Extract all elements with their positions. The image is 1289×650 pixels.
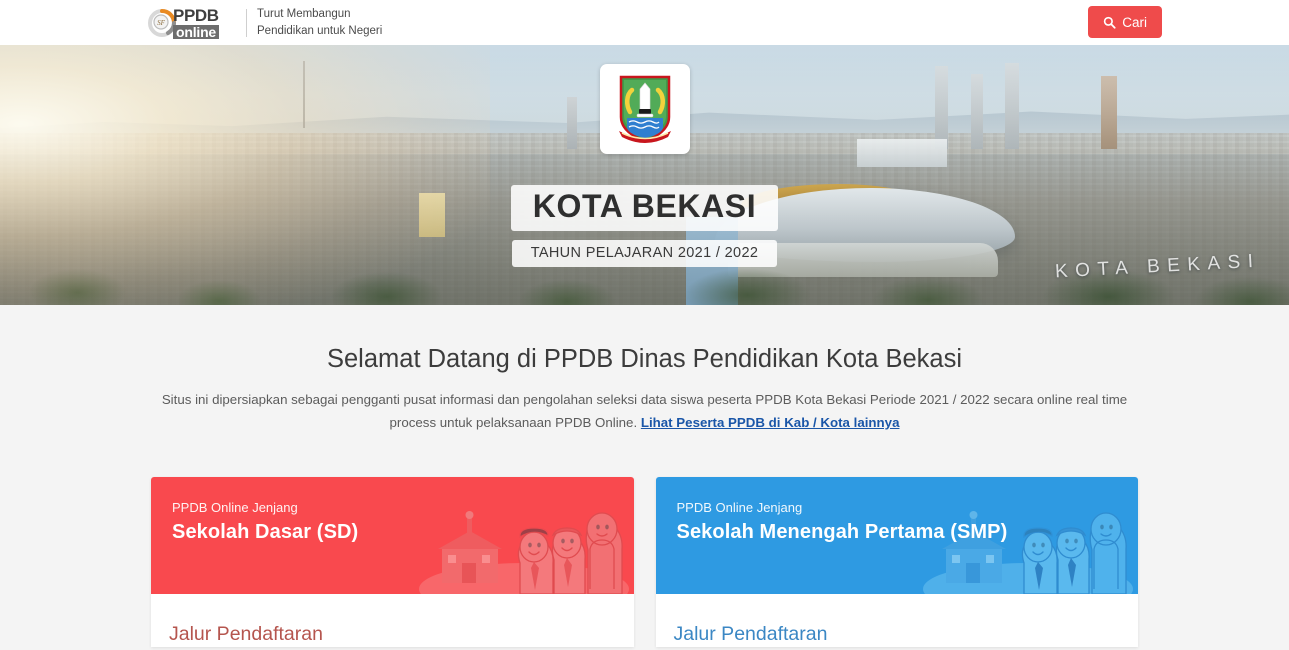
tagline-line-1: Turut Membangun (257, 6, 382, 23)
kota-bekasi-coat-of-arms-icon (613, 73, 677, 145)
card-sekolah-menengah-pertama[interactable]: PPDB Online Jenjang Sekolah Menengah Per… (656, 477, 1139, 647)
search-button-label: Cari (1122, 15, 1147, 30)
welcome-section: Selamat Datang di PPDB Dinas Pendidikan … (0, 305, 1289, 435)
svg-text:SF: SF (157, 19, 166, 27)
tagline-line-2: Pendidikan untuk Negeri (257, 23, 382, 40)
card-section-title-smp: Jalur Pendaftaran (674, 625, 1139, 645)
card-sekolah-dasar[interactable]: PPDB Online Jenjang Sekolah Dasar (SD) J… (151, 477, 634, 647)
logo-secondary-text: online (173, 25, 219, 39)
site-header: SF PPDB online Turut Membangun Pendidika… (0, 0, 1289, 45)
brand-divider (246, 9, 247, 37)
school-year-badge: TAHUN PELAJARAN 2021 / 2022 (512, 240, 778, 267)
ppdb-wordmark: PPDB online (173, 7, 219, 39)
city-name-text: KOTA BEKASI (533, 189, 757, 225)
school-year-text: TAHUN PELAJARAN 2021 / 2022 (531, 245, 759, 261)
card-header-smp: PPDB Online Jenjang Sekolah Menengah Per… (656, 477, 1139, 594)
card-body-smp: Jalur Pendaftaran (656, 594, 1139, 647)
card-title-smp: Sekolah Menengah Pertama (SMP) (677, 521, 1139, 544)
page-title: Selamat Datang di PPDB Dinas Pendidikan … (0, 343, 1289, 376)
brand-tagline: Turut Membangun Pendidikan untuk Negeri (257, 6, 382, 39)
city-name-badge: KOTA BEKASI (511, 185, 779, 231)
city-crest-container (600, 64, 690, 154)
card-title-sd: Sekolah Dasar (SD) (172, 521, 634, 544)
search-icon (1103, 16, 1116, 29)
search-button[interactable]: Cari (1088, 6, 1162, 38)
ppdb-logo-mark: SF PPDB online (148, 6, 234, 40)
logo-primary-text: PPDB (173, 7, 219, 24)
card-header-sd: PPDB Online Jenjang Sekolah Dasar (SD) (151, 477, 634, 594)
page-root: SF PPDB online Turut Membangun Pendidika… (0, 0, 1289, 650)
card-eyebrow-sd: PPDB Online Jenjang (172, 500, 634, 515)
hero-center-stack: KOTA BEKASI TAHUN PELAJARAN 2021 / 2022 (0, 64, 1289, 267)
hero-banner: KOTA BEKASI TAHUN PELAJARAN 2021 / 2022 … (0, 45, 1289, 305)
jenjang-card-list: PPDB Online Jenjang Sekolah Dasar (SD) J… (0, 435, 1289, 647)
card-eyebrow-smp: PPDB Online Jenjang (677, 500, 1139, 515)
card-section-title-sd: Jalur Pendaftaran (169, 625, 634, 645)
brand-logo[interactable]: SF PPDB online Turut Membangun Pendidika… (148, 5, 382, 41)
other-regions-link[interactable]: Lihat Peserta PPDB di Kab / Kota lainnya (641, 415, 900, 430)
welcome-description: Situs ini dipersiapkan sebagai pengganti… (145, 389, 1145, 435)
card-body-sd: Jalur Pendaftaran (151, 594, 634, 647)
